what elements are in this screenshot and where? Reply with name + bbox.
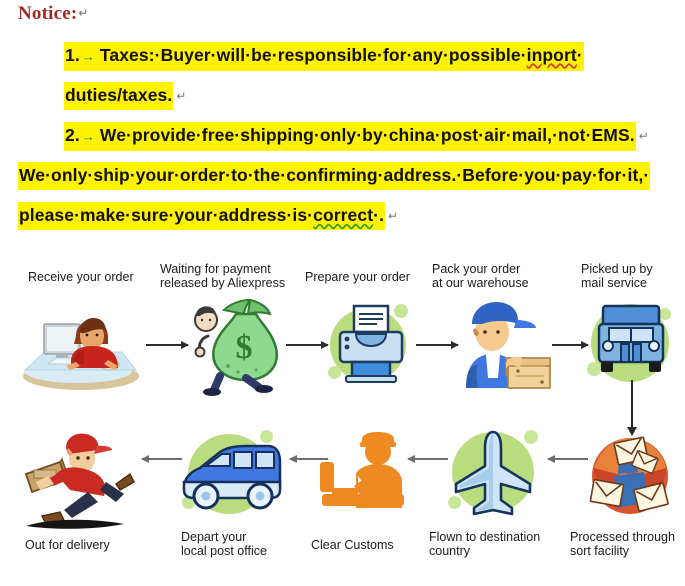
airplane-icon [442, 426, 546, 528]
money-bag-icon: $ [184, 292, 292, 396]
warehouse-worker-icon [452, 296, 556, 396]
flow-caption-depart-local-post-office: Depart your local post office [181, 530, 311, 558]
flow-caption-flown-to-destination: Flown to destination country [429, 530, 569, 558]
notice-text: We·only·ship·your·order·to·the·confirmin… [19, 165, 649, 185]
notice-text: We·provide·free·shipping·only·by·china·p… [100, 125, 635, 145]
shipping-process-flowchart: Receive your order Waiting for payment r… [0, 258, 685, 586]
tab-mark-icon: → [80, 129, 100, 144]
tab-mark-icon: → [80, 49, 100, 64]
misspelled-word: inport [527, 45, 577, 65]
flow-caption-clear-customs: Clear Customs [311, 538, 441, 552]
paragraph-mark-icon: ↵ [173, 86, 186, 107]
flow-caption-pack-your-order: Pack your order at our warehouse [432, 262, 562, 290]
printer-icon [322, 298, 418, 394]
notice-line-shipping-2: We·only·ship·your·order·to·the·confirmin… [0, 156, 685, 196]
flow-arrow-right-1 [146, 344, 188, 346]
svg-text:$: $ [236, 329, 253, 366]
paragraph-mark-icon: ↵ [636, 126, 649, 147]
notice-text-tail: ·. [373, 205, 384, 225]
flow-caption-processed-sort-facility: Processed through sort facility [570, 530, 685, 558]
flow-caption-out-for-delivery: Out for delivery [25, 538, 155, 552]
notice-body: 1.→Taxes:·Buyer·will·be·responsible·for·… [0, 36, 685, 236]
list-number: 1. [65, 45, 80, 65]
delivery-van-icon [176, 426, 288, 530]
misspelled-word: correct [313, 205, 373, 225]
flow-arrow-down [631, 380, 633, 428]
flow-caption-prepare-your-order: Prepare your order [305, 270, 435, 284]
notice-line-taxes-1: 1.→Taxes:·Buyer·will·be·responsible·for·… [0, 36, 685, 76]
paragraph-mark-icon: ↵ [78, 6, 88, 20]
notice-text-tail: · [577, 45, 583, 65]
notice-line-shipping-3: please·make·sure·your·address·is·correct… [0, 196, 685, 236]
mail-sort-bundle-icon [578, 424, 682, 528]
notice-line-shipping-1: 2.→We·provide·free·shipping·only·by·chin… [0, 116, 685, 156]
list-number: 2. [65, 125, 80, 145]
notice-line-taxes-2: duties/taxes.↵ [0, 76, 685, 116]
flow-caption-receive-your-order: Receive your order [28, 270, 158, 284]
paragraph-mark-icon: ↵ [385, 206, 398, 227]
notice-text: please·make·sure·your·address·is· [19, 205, 313, 225]
notice-heading: Notice:↵ [18, 3, 89, 25]
flow-caption-waiting-for-payment: Waiting for payment released by Aliexpre… [160, 262, 300, 290]
flow-caption-picked-up-by-mail-service: Picked up by mail service [581, 262, 685, 290]
person-at-computer-icon [18, 302, 148, 394]
running-courier-icon [8, 428, 140, 530]
customs-officer-icon [314, 430, 418, 526]
notice-heading-text: Notice: [18, 3, 77, 24]
notice-text: duties/taxes. [65, 85, 172, 105]
notice-text: Taxes:·Buyer·will·be·responsible·for·any… [100, 45, 527, 65]
